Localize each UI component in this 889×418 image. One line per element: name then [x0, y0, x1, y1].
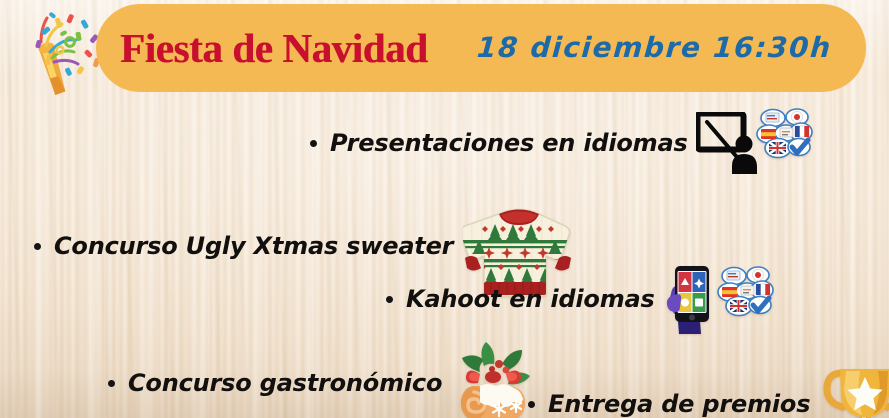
list-item-art [818, 361, 889, 418]
list-item-art [450, 336, 536, 418]
list-item: Kahoot en idiomas [386, 264, 775, 334]
list-item-label: Presentaciones en idiomas [330, 131, 688, 155]
bullet-dot-icon [528, 401, 535, 408]
bullet-dot-icon [34, 243, 41, 250]
presenter-whiteboard-icon [696, 112, 762, 174]
language-speech-bubble-icon [717, 264, 775, 318]
bullet-dot-icon [108, 380, 115, 387]
bullet-dot-icon [310, 140, 317, 147]
kahoot-phone-icon [663, 264, 721, 334]
list-item: Concurso gastronómico [108, 336, 536, 418]
list-item: Presentaciones en idiomas [310, 112, 814, 174]
event-datetime: 18 diciembre 16:30h [476, 34, 833, 62]
language-speech-bubble-icon [756, 106, 814, 160]
party-popper-icon [8, 6, 104, 102]
list-item-label: Concurso gastronómico [128, 371, 442, 395]
christmas-party-poster: Fiesta de Navidad 18 diciembre 16:30h Pr… [0, 0, 889, 418]
list-item-label: Concurso Ugly Xtmas sweater [54, 234, 453, 258]
list-item-art [663, 264, 775, 334]
list-item-art [696, 112, 814, 174]
header-banner: Fiesta de Navidad 18 diciembre 16:30h [96, 4, 866, 92]
page-title: Fiesta de Navidad [120, 28, 428, 69]
list-item-label: Kahoot en idiomas [406, 287, 655, 311]
list-item: Entrega de premios [528, 361, 889, 418]
trophy-icon [822, 361, 889, 418]
yule-log-cake-icon [450, 342, 536, 418]
bullet-dot-icon [386, 296, 393, 303]
list-item-label: Entrega de premios [548, 392, 810, 416]
